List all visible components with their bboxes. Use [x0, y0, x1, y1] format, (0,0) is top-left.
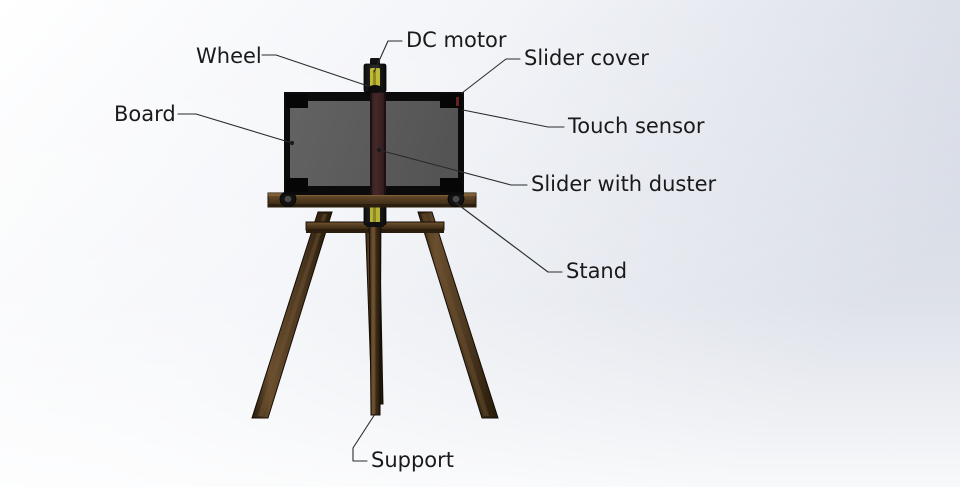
touch-sensor-element — [456, 97, 459, 106]
support-post — [369, 205, 381, 415]
diagram-canvas: Wheel DC motor Slider cover Board Touch … — [0, 0, 960, 487]
label-stand: Stand — [566, 259, 627, 283]
label-board: Board — [114, 102, 176, 126]
label-touch-sensor: Touch sensor — [567, 114, 705, 138]
corner-block-tl — [286, 94, 308, 108]
slider-with-duster — [370, 92, 386, 195]
label-dc-motor: DC motor — [406, 28, 507, 52]
background-gradient — [0, 0, 960, 487]
label-slider-cover: Slider cover — [524, 46, 649, 70]
corner-block-br — [440, 178, 462, 192]
label-slider-with-duster: Slider with duster — [531, 172, 717, 196]
leader-dot-board — [290, 141, 294, 145]
corner-block-bl — [286, 178, 308, 192]
easel-tray — [268, 193, 476, 208]
label-wheel: Wheel — [196, 44, 262, 68]
label-support: Support — [371, 448, 454, 472]
leader-dot-slider — [377, 148, 381, 152]
